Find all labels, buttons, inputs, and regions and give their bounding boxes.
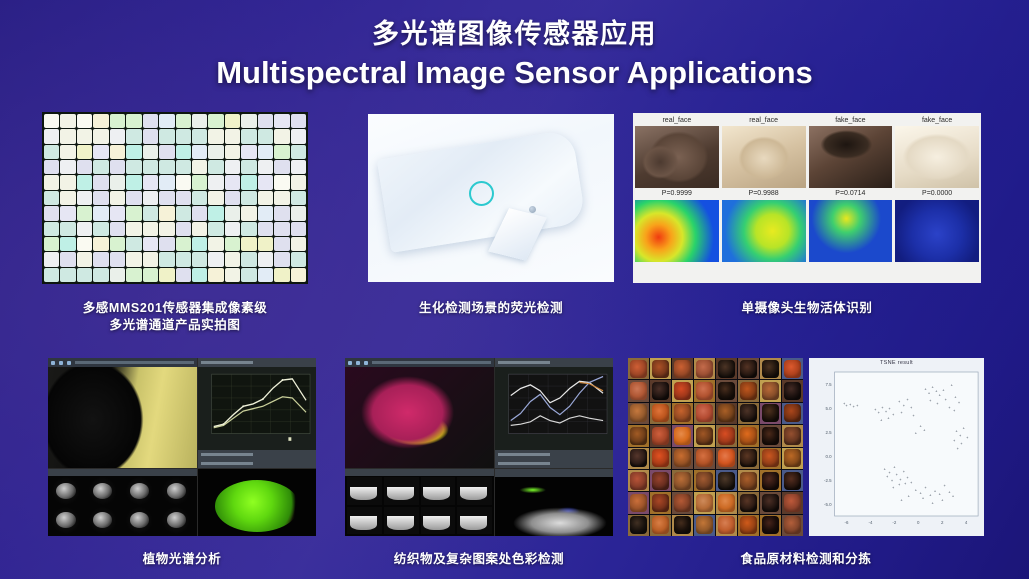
food-sample-cell (716, 492, 737, 513)
mosaic-pixel (192, 145, 207, 159)
food-sample-cell (760, 492, 781, 513)
food-sample-cell (760, 515, 781, 536)
toolbar-icon[interactable] (356, 361, 360, 365)
food-sample-cell (694, 492, 715, 513)
mosaic-pixel (225, 175, 240, 189)
food-sample-cell (650, 448, 671, 469)
band-thumbnail[interactable] (421, 507, 456, 534)
mosaic-pixel (241, 129, 256, 143)
camera-view (48, 358, 198, 468)
mosaic-pixel (143, 175, 158, 189)
food-sample-cell (694, 358, 715, 379)
graph-panel-title (498, 361, 549, 364)
food-sample (652, 382, 670, 400)
spectral-chart (495, 367, 613, 450)
mosaic-pixel (93, 222, 108, 236)
food-sample (718, 449, 736, 467)
food-sample-cell (782, 358, 803, 379)
band-thumbnail[interactable] (124, 477, 159, 504)
mosaic-pixel (192, 252, 207, 266)
mosaic-pixel (208, 175, 223, 189)
food-sample-cell (738, 425, 759, 446)
mosaic-pixel (258, 145, 273, 159)
panel-food-sorting: TSNE result 7.55.02.50.0-2.5-5.0-6-4-202… (628, 358, 984, 536)
band-thumbnail[interactable] (421, 477, 456, 504)
caption-line-1: 食品原材料检测和分拣 (628, 551, 984, 568)
mosaic-pixel (126, 129, 141, 143)
classification-panel-header[interactable] (198, 459, 316, 468)
mosaic-pixel (208, 252, 223, 266)
food-sample (784, 494, 802, 512)
mosaic-pixel (159, 206, 174, 220)
mosaic-pixel (60, 222, 75, 236)
result-panel-title (498, 453, 549, 456)
food-sample-cell (650, 358, 671, 379)
band-thumbnail[interactable] (347, 507, 382, 534)
food-sample-cell (738, 403, 759, 424)
food-sample-cell (782, 492, 803, 513)
mosaic-pixel (274, 160, 289, 174)
mosaic-pixel (110, 237, 125, 251)
food-sample (630, 382, 648, 400)
caption-line-1: 多感MMS201传感器集成像素级 (42, 300, 308, 317)
band-thumbnail[interactable] (124, 507, 159, 534)
software-upper-region (345, 358, 613, 468)
food-sample-cell (782, 470, 803, 491)
food-sample-cell (716, 470, 737, 491)
toolbar-icon[interactable] (67, 361, 71, 365)
mosaic-pixel (258, 206, 273, 220)
food-sample (696, 427, 714, 445)
food-sample (696, 449, 714, 467)
tsne-scatter-plot: TSNE result 7.55.02.50.0-2.5-5.0-6-4-202… (809, 358, 984, 536)
toolbar-icon[interactable] (51, 361, 55, 365)
mosaic-pixel (291, 129, 306, 143)
food-sample (718, 404, 736, 422)
mosaic-pixel (291, 160, 306, 174)
mosaic-pixel (192, 237, 207, 251)
caption-food-sorting: 食品原材料检测和分拣 (628, 551, 984, 568)
mosaic-pixel (110, 114, 125, 128)
food-sample (740, 427, 758, 445)
food-sample-cell (650, 492, 671, 513)
panel-sensor-mosaic (42, 112, 308, 284)
food-sample (718, 427, 736, 445)
panel-face-liveness: real_face P=0.9999 real_face P=0.9988 fa… (633, 113, 981, 283)
result-panel-header[interactable] (495, 450, 613, 459)
mosaic-pixel (44, 252, 59, 266)
slide-title-block: 多光谱图像传感器应用 Multispectral Image Sensor Ap… (0, 12, 1029, 91)
toolbar-icon[interactable] (59, 361, 63, 365)
food-sample-cell (760, 448, 781, 469)
scatter-svg: 7.55.02.50.0-2.5-5.0-6-4-2024+++++++++++… (809, 358, 984, 536)
scatter-y-tick: 7.5 (825, 382, 832, 387)
food-composite: TSNE result 7.55.02.50.0-2.5-5.0-6-4-202… (628, 358, 984, 536)
mosaic-pixel (192, 191, 207, 205)
mosaic-pixel (274, 206, 289, 220)
food-sample-cell (694, 403, 715, 424)
food-sample-cell (716, 515, 737, 536)
food-sample-cell (782, 403, 803, 424)
mosaic-pixel (176, 222, 191, 236)
camera-toolbar[interactable] (48, 358, 197, 367)
caption-line-2: 多光谱通道产品实拍图 (42, 317, 308, 334)
classification-view (495, 469, 613, 536)
face-grid: real_face P=0.9999 real_face P=0.9988 fa… (633, 113, 981, 283)
food-sample-cell (716, 448, 737, 469)
classification-result-textile (495, 477, 613, 536)
band-thumbnail[interactable] (87, 507, 122, 534)
mosaic-pixel (143, 145, 158, 159)
food-sample (696, 382, 714, 400)
band-thumbnail[interactable] (50, 507, 85, 534)
mosaic-pixel (143, 129, 158, 143)
mosaic-pixel (93, 268, 108, 282)
food-sample-cell (694, 448, 715, 469)
food-sample-cell (782, 425, 803, 446)
mosaic-pixel (225, 160, 240, 174)
food-sample-cell (650, 403, 671, 424)
food-sample-cell (738, 492, 759, 513)
pixel-mosaic-grid (42, 112, 308, 284)
mosaic-pixel (192, 175, 207, 189)
mosaic-pixel (126, 237, 141, 251)
band-thumbnail-grid (48, 469, 198, 536)
food-sample (696, 494, 714, 512)
food-sample (740, 449, 758, 467)
software-upper-region (48, 358, 316, 468)
food-sample-cell (694, 380, 715, 401)
caption-sensor-mosaic: 多感MMS201传感器集成像素级 多光谱通道产品实拍图 (42, 300, 308, 334)
food-sample (674, 494, 692, 512)
mosaic-pixel (274, 145, 289, 159)
mosaic-pixel (225, 237, 240, 251)
food-sample-cell (628, 380, 649, 401)
band-panel-header[interactable] (48, 469, 197, 476)
food-sample-cell (738, 380, 759, 401)
mosaic-pixel (44, 237, 59, 251)
food-sample (784, 516, 802, 534)
mosaic-pixel (143, 114, 158, 128)
mosaic-pixel (159, 222, 174, 236)
mosaic-pixel (225, 252, 240, 266)
graph-panel-title (201, 361, 252, 364)
mosaic-pixel (241, 160, 256, 174)
food-sample (740, 472, 758, 490)
food-sample-cell (650, 425, 671, 446)
mosaic-pixel (258, 175, 273, 189)
mosaic-pixel (77, 175, 92, 189)
food-sample (718, 360, 736, 378)
mosaic-pixel (126, 222, 141, 236)
mosaic-pixel (143, 237, 158, 251)
mosaic-pixel (258, 191, 273, 205)
food-sample (784, 382, 802, 400)
mosaic-pixel (77, 237, 92, 251)
camera-frame-textile (345, 367, 494, 468)
food-sample (696, 516, 714, 534)
food-sample (674, 360, 692, 378)
mosaic-pixel (176, 268, 191, 282)
band-thumbnail[interactable] (457, 507, 492, 534)
mosaic-pixel (110, 145, 125, 159)
mosaic-pixel (241, 145, 256, 159)
mosaic-pixel (93, 160, 108, 174)
camera-frame-plant (48, 367, 197, 468)
band-thumbnail[interactable] (87, 477, 122, 504)
mosaic-pixel (225, 191, 240, 205)
food-sample (696, 472, 714, 490)
heatmap-thumbnail (722, 200, 806, 262)
mosaic-pixel (60, 145, 75, 159)
food-sample-cell (650, 470, 671, 491)
toolbar-icon[interactable] (364, 361, 368, 365)
toolbar-icon[interactable] (348, 361, 352, 365)
food-sample (630, 360, 648, 378)
mosaic-pixel (110, 175, 125, 189)
band-thumbnail[interactable] (347, 477, 382, 504)
classification-view-header[interactable] (495, 469, 613, 477)
scatter-y-tick: 0.0 (825, 454, 832, 459)
spectral-graph-panel (198, 358, 316, 468)
heatmap-cell (809, 200, 893, 262)
band-thumbnail[interactable] (50, 477, 85, 504)
band-thumbnail-grid (345, 469, 495, 536)
textile-color-screenshot (345, 358, 613, 536)
food-sample (718, 382, 736, 400)
food-sample (762, 382, 780, 400)
mosaic-pixel (274, 252, 289, 266)
mosaic-pixel (208, 191, 223, 205)
food-sample (630, 472, 648, 490)
mosaic-pixel (192, 222, 207, 236)
food-sample-cell (782, 448, 803, 469)
page-title-en: Multispectral Image Sensor Applications (0, 55, 1029, 91)
food-sample-cell (782, 380, 803, 401)
mosaic-pixel (192, 129, 207, 143)
food-sample (630, 404, 648, 422)
mosaic-pixel (60, 252, 75, 266)
face-label: fake_face (809, 115, 893, 126)
food-sample (696, 360, 714, 378)
band-thumbnail[interactable] (457, 477, 492, 504)
spectral-graph-panel (495, 358, 613, 468)
food-sample (784, 404, 802, 422)
food-sample-cell (628, 358, 649, 379)
mosaic-pixel (258, 237, 273, 251)
face-probability: P=0.9999 (635, 188, 719, 200)
caption-line-1: 单摄像头生物活体识别 (633, 300, 981, 317)
food-sample-cell (694, 470, 715, 491)
food-sample (674, 427, 692, 445)
mosaic-pixel (176, 114, 191, 128)
food-sample (674, 449, 692, 467)
face-thumbnail (809, 126, 893, 188)
food-sample-grid (628, 358, 803, 536)
mosaic-pixel (44, 145, 59, 159)
food-sample-cell (760, 403, 781, 424)
food-sample (762, 427, 780, 445)
scatter-plot-frame (835, 372, 979, 516)
band-thumbnail[interactable] (160, 477, 195, 504)
mosaic-pixel (192, 160, 207, 174)
face-cell: fake_face P=0.0714 (809, 115, 893, 200)
mosaic-pixel (291, 237, 306, 251)
food-sorting-image: TSNE result 7.55.02.50.0-2.5-5.0-6-4-202… (628, 358, 984, 536)
plant-spectra-screenshot (48, 358, 316, 536)
food-sample (630, 427, 648, 445)
mosaic-pixel (77, 114, 92, 128)
food-sample (762, 494, 780, 512)
mosaic-pixel (274, 237, 289, 251)
panel-plant-spectra (48, 358, 316, 536)
classification-panel-header[interactable] (495, 459, 613, 468)
food-sample-cell (672, 515, 693, 536)
mosaic-pixel (77, 191, 92, 205)
food-sample (784, 427, 802, 445)
mosaic-pixel (126, 175, 141, 189)
band-thumbnail[interactable] (384, 507, 419, 534)
mosaic-pixel (274, 222, 289, 236)
software-window (48, 358, 316, 536)
food-sample-cell (716, 403, 737, 424)
food-sample-cell (628, 425, 649, 446)
mosaic-pixel (110, 129, 125, 143)
mosaic-pixel (93, 237, 108, 251)
band-thumbnail[interactable] (160, 507, 195, 534)
food-sample-cell (738, 515, 759, 536)
mosaic-pixel (291, 175, 306, 189)
mosaic-pixel (208, 129, 223, 143)
food-sample (696, 404, 714, 422)
food-sample (630, 449, 648, 467)
mosaic-pixel (93, 191, 108, 205)
caption-plant-spectra: 植物光谱分析 (48, 551, 316, 568)
classification-result-plant (215, 480, 300, 532)
face-label: fake_face (895, 115, 979, 126)
food-sample (740, 382, 758, 400)
mosaic-pixel (93, 145, 108, 159)
food-sample-cell (672, 492, 693, 513)
food-sample (718, 494, 736, 512)
mosaic-pixel (159, 145, 174, 159)
result-panel-header[interactable] (198, 450, 316, 459)
food-sample-cell (628, 492, 649, 513)
mosaic-pixel (291, 252, 306, 266)
software-lower-region (345, 468, 613, 536)
mosaic-pixel (291, 145, 306, 159)
mosaic-pixel (291, 206, 306, 220)
mosaic-pixel (274, 114, 289, 128)
food-sample (762, 472, 780, 490)
mosaic-pixel (126, 145, 141, 159)
mosaic-pixel (241, 222, 256, 236)
camera-view (345, 358, 495, 468)
face-probability: P=0.9988 (722, 188, 806, 200)
mosaic-pixel (176, 160, 191, 174)
mosaic-pixel (110, 268, 125, 282)
food-sample (762, 449, 780, 467)
mosaic-pixel (93, 206, 108, 220)
mosaic-pixel (208, 237, 223, 251)
mosaic-pixel (159, 268, 174, 282)
caption-fluorescence: 生化检测场景的荧光检测 (368, 300, 614, 317)
mosaic-pixel (110, 160, 125, 174)
spectral-chart (198, 367, 316, 450)
mosaic-pixel (225, 206, 240, 220)
caption-face-liveness: 单摄像头生物活体识别 (633, 300, 981, 317)
food-sample (762, 516, 780, 534)
scatter-y-tick: -5.0 (824, 502, 832, 507)
mosaic-pixel (44, 114, 59, 128)
graph-panel-header[interactable] (495, 358, 613, 367)
food-sample-cell (672, 358, 693, 379)
face-thumbnail (722, 126, 806, 188)
band-thumbnail[interactable] (384, 477, 419, 504)
software-window (345, 358, 613, 536)
band-panel-header[interactable] (345, 469, 494, 476)
scatter-y-tick: -2.5 (824, 478, 832, 483)
mosaic-pixel (60, 175, 75, 189)
result-panel-title (201, 453, 252, 456)
toolbar-label (372, 361, 491, 364)
food-sample (674, 382, 692, 400)
mosaic-pixel (241, 175, 256, 189)
mosaic-pixel (291, 268, 306, 282)
food-sample-cell (694, 425, 715, 446)
food-sample (652, 449, 670, 467)
face-liveness-image: real_face P=0.9999 real_face P=0.9988 fa… (633, 113, 981, 283)
face-thumbnail (635, 126, 719, 188)
mosaic-pixel (60, 191, 75, 205)
mosaic-pixel (126, 252, 141, 266)
food-sample (718, 472, 736, 490)
heatmap-thumbnail (809, 200, 893, 262)
mosaic-pixel (192, 114, 207, 128)
software-lower-region (48, 468, 316, 536)
mosaic-pixel (44, 222, 59, 236)
camera-toolbar[interactable] (345, 358, 494, 367)
mosaic-pixel (159, 160, 174, 174)
mosaic-pixel (44, 206, 59, 220)
toolbar-label (75, 361, 194, 364)
food-sample (762, 404, 780, 422)
mosaic-pixel (176, 206, 191, 220)
mosaic-pixel (241, 206, 256, 220)
food-sample (674, 404, 692, 422)
graph-panel-header[interactable] (198, 358, 316, 367)
mosaic-pixel (241, 114, 256, 128)
mosaic-pixel (192, 206, 207, 220)
mosaic-pixel (60, 114, 75, 128)
mosaic-pixel (291, 222, 306, 236)
face-row-rgb: real_face P=0.9999 real_face P=0.9988 fa… (635, 115, 979, 200)
mosaic-pixel (126, 268, 141, 282)
mosaic-pixel (44, 268, 59, 282)
food-sample-cell (650, 380, 671, 401)
heatmap-cell (895, 200, 979, 262)
mosaic-pixel (159, 252, 174, 266)
mosaic-pixel (208, 222, 223, 236)
heatmap-cell (635, 200, 719, 262)
mosaic-pixel (176, 237, 191, 251)
food-sample-cell (628, 515, 649, 536)
scatter-x-tick: -4 (868, 520, 872, 525)
mosaic-pixel (241, 252, 256, 266)
heatmap-thumbnail (895, 200, 979, 262)
mosaic-pixel (274, 191, 289, 205)
mosaic-pixel (258, 129, 273, 143)
